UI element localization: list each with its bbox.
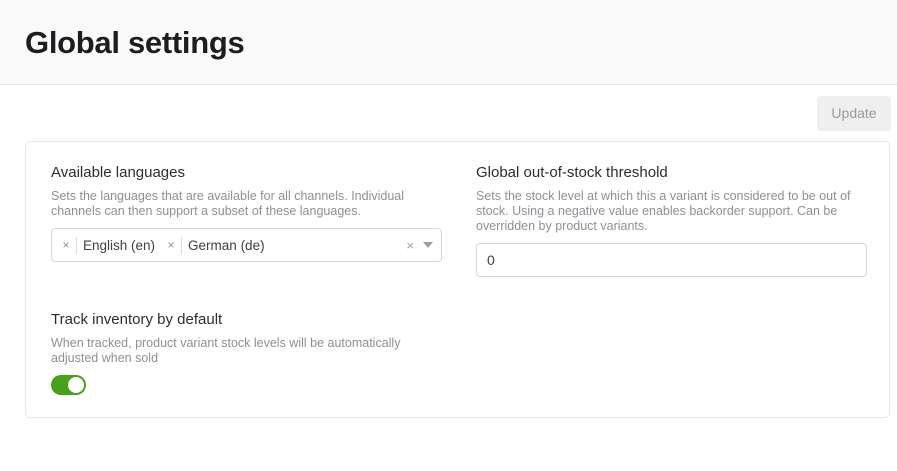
close-icon[interactable]: × bbox=[58, 234, 74, 256]
available-languages-help: Sets the languages that are available fo… bbox=[51, 189, 442, 219]
settings-row-1: Available languages Sets the languages t… bbox=[51, 164, 864, 277]
page-title: Global settings bbox=[25, 27, 244, 58]
language-chip-label: English (en) bbox=[83, 238, 155, 253]
out-of-stock-threshold-input[interactable] bbox=[476, 243, 867, 277]
field-track-inventory: Track inventory by default When tracked,… bbox=[51, 311, 442, 395]
language-chip[interactable]: × English (en) bbox=[58, 234, 155, 256]
chip-divider bbox=[76, 237, 77, 254]
field-available-languages: Available languages Sets the languages t… bbox=[51, 164, 442, 277]
chip-divider bbox=[181, 237, 182, 254]
track-inventory-help: When tracked, product variant stock leve… bbox=[51, 336, 442, 366]
track-inventory-toggle[interactable] bbox=[51, 375, 86, 395]
language-chip[interactable]: × German (de) bbox=[163, 234, 265, 256]
available-languages-label: Available languages bbox=[51, 164, 442, 182]
out-of-stock-threshold-label: Global out-of-stock threshold bbox=[476, 164, 867, 182]
page-header: Global settings bbox=[0, 0, 897, 85]
action-bar: Update bbox=[0, 85, 897, 141]
field-out-of-stock-threshold: Global out-of-stock threshold Sets the s… bbox=[476, 164, 867, 277]
settings-row-2: Track inventory by default When tracked,… bbox=[51, 311, 864, 395]
close-icon[interactable]: × bbox=[163, 234, 179, 256]
update-button[interactable]: Update bbox=[817, 96, 891, 131]
chevron-down-icon[interactable] bbox=[423, 242, 433, 248]
language-chip-label: German (de) bbox=[188, 238, 265, 253]
out-of-stock-threshold-help: Sets the stock level at which this a var… bbox=[476, 189, 867, 234]
track-inventory-label: Track inventory by default bbox=[51, 311, 442, 329]
language-chip-list: × English (en) × German (de) bbox=[58, 234, 398, 256]
available-languages-multiselect[interactable]: × English (en) × German (de) × bbox=[51, 228, 442, 262]
settings-card: Available languages Sets the languages t… bbox=[25, 141, 890, 418]
clear-icon[interactable]: × bbox=[406, 239, 414, 252]
settings-row-2-spacer bbox=[476, 311, 867, 395]
toggle-knob bbox=[68, 377, 84, 393]
multiselect-actions: × bbox=[398, 239, 433, 252]
